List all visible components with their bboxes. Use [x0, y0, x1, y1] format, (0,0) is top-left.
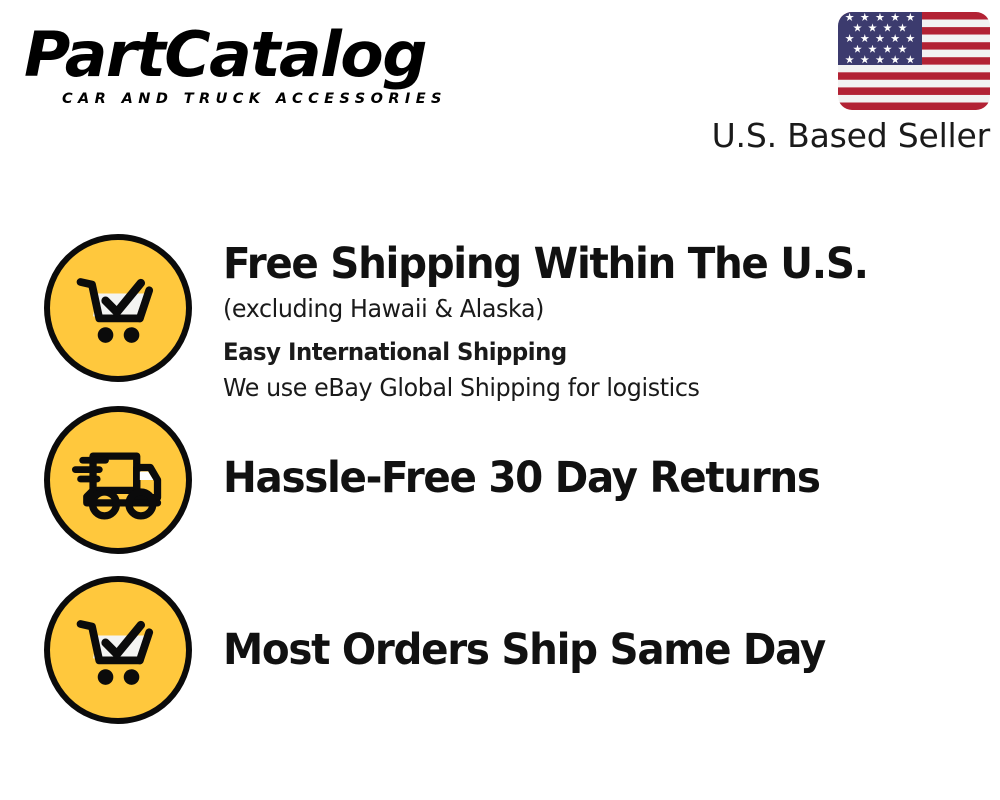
feature-row: Hassle-Free 30 Day Returns — [0, 406, 1000, 554]
feature-text-block: Most Orders Ship Same Day — [223, 576, 863, 676]
feature-text-block: Free Shipping Within The U.S. (excluding… — [223, 234, 909, 407]
delivery-truck-glyph — [66, 428, 170, 532]
brand-tagline: CAR AND TRUCK ACCESSORIES — [62, 91, 494, 107]
page-header: PartCatalog CAR AND TRUCK ACCESSORIES — [0, 0, 1000, 180]
us-based-seller-label: U.S. Based Seller — [0, 116, 990, 156]
shopping-cart-check-glyph — [66, 256, 170, 360]
us-flag-icon — [838, 12, 990, 110]
feature-subnote: (excluding Hawaii & Alaska) — [223, 290, 875, 328]
delivery-truck-icon — [44, 406, 192, 554]
brand-wordmark: PartCatalog — [24, 20, 503, 90]
feature-title: Most Orders Ship Same Day — [223, 624, 825, 676]
feature-row: Free Shipping Within The U.S. (excluding… — [0, 234, 1000, 407]
partcatalog-logo[interactable]: PartCatalog CAR AND TRUCK ACCESSORIES — [24, 20, 494, 120]
feature-title: Hassle-Free 30 Day Returns — [223, 452, 820, 504]
flag-canton-stars — [838, 12, 922, 65]
feature-title: Free Shipping Within The U.S. — [223, 238, 868, 290]
feature-text-block: Hassle-Free 30 Day Returns — [223, 406, 858, 504]
shopping-cart-check-icon — [44, 234, 192, 382]
shopping-cart-check-icon — [44, 576, 192, 724]
feature-sub-strong: Easy International Shipping — [223, 333, 875, 371]
feature-sub-plain: We use eBay Global Shipping for logistic… — [223, 369, 875, 407]
feature-row: Most Orders Ship Same Day — [0, 576, 1000, 724]
shopping-cart-check-glyph — [66, 598, 170, 702]
